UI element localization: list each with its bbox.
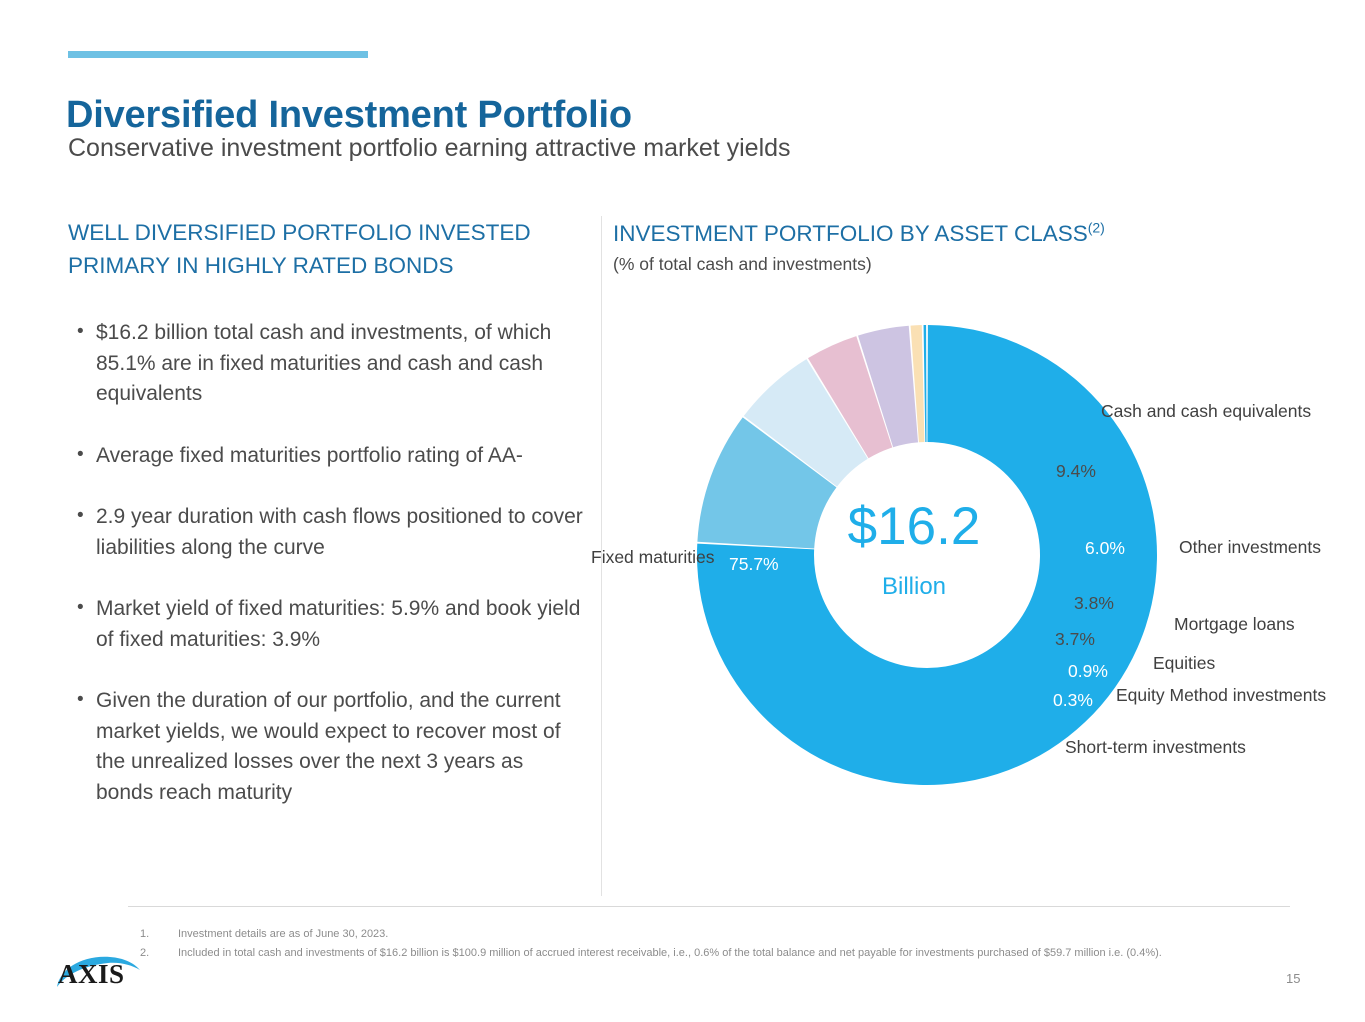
title-accent-bar xyxy=(68,51,368,58)
chart-heading-text: INVESTMENT PORTFOLIO BY ASSET CLASS xyxy=(613,221,1088,246)
list-item: 2.9 year duration with cash flows positi… xyxy=(68,502,584,563)
footnote-item: 1. Investment details are as of June 30,… xyxy=(140,925,1300,944)
list-item: $16.2 billion total cash and investments… xyxy=(68,318,584,410)
chart-heading: INVESTMENT PORTFOLIO BY ASSET CLASS(2) xyxy=(613,221,1105,247)
footnote-item: 2. Included in total cash and investment… xyxy=(140,944,1300,963)
page-subtitle: Conservative investment portfolio earnin… xyxy=(68,134,791,163)
list-item: Average fixed maturities portfolio ratin… xyxy=(68,441,584,472)
donut-center-total: $16.2 xyxy=(834,500,994,553)
footnotes: 1. Investment details are as of June 30,… xyxy=(140,925,1300,963)
series-label-mortgage-loans: Mortgage loans xyxy=(1174,613,1295,636)
donut-chart: 75.7% 9.4% 6.0% 3.8% 3.7% 0.9% 0.3% Fixe… xyxy=(601,300,1365,860)
left-column-heading: WELL DIVERSIFIED PORTFOLIO INVESTED PRIM… xyxy=(68,216,568,282)
list-item: Given the duration of our portfolio, and… xyxy=(68,686,584,808)
donut-center-unit: Billion xyxy=(834,575,994,599)
footer-divider xyxy=(128,906,1290,907)
list-item: Market yield of fixed maturities: 5.9% a… xyxy=(68,594,584,655)
footnote-text: Investment details are as of June 30, 20… xyxy=(178,925,1300,944)
footnote-number: 1. xyxy=(140,925,178,944)
page-number: 15 xyxy=(1286,971,1300,986)
series-label-equities: Equities xyxy=(1153,652,1215,675)
series-label-cash: Cash and cash equivalents xyxy=(1101,400,1281,423)
chart-heading-footnote-ref: (2) xyxy=(1088,220,1105,236)
left-column: WELL DIVERSIFIED PORTFOLIO INVESTED PRIM… xyxy=(68,216,584,839)
footnote-text: Included in total cash and investments o… xyxy=(178,944,1300,963)
page-title: Diversified Investment Portfolio xyxy=(66,94,632,137)
axis-logo: AXIS xyxy=(52,949,160,993)
series-label-other-investments: Other investments xyxy=(1179,536,1321,559)
series-label-equity-method: Equity Method investments xyxy=(1116,684,1284,707)
logo-text: AXIS xyxy=(58,959,125,989)
series-label-short-term: Short-term investments xyxy=(1065,736,1245,759)
chart-subheading: (% of total cash and investments) xyxy=(613,254,872,275)
bullet-list: $16.2 billion total cash and investments… xyxy=(68,318,584,808)
series-label-fixed-maturities: Fixed maturities xyxy=(591,546,686,569)
